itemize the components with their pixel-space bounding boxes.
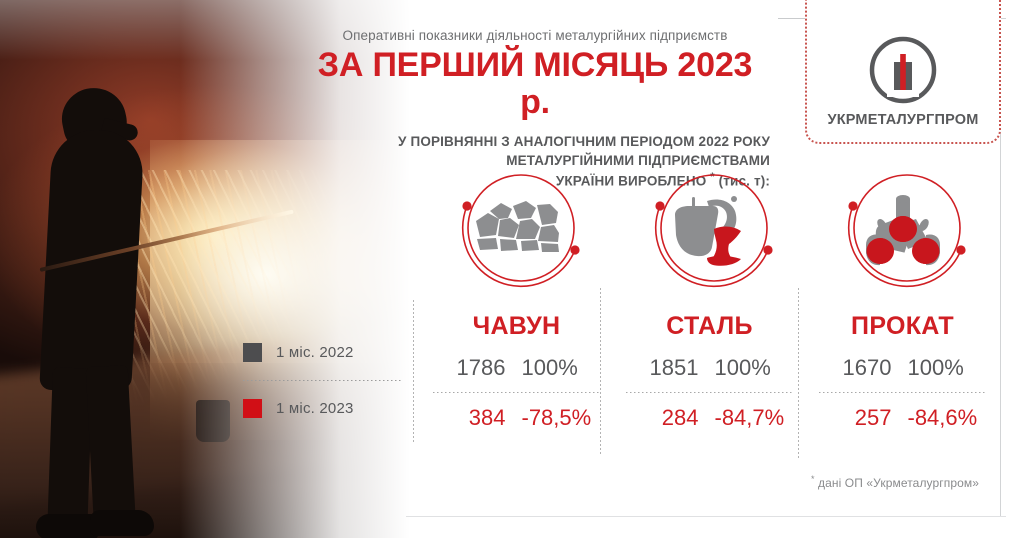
percent-2022-prokat: 100%	[902, 355, 988, 381]
metric-divider-stal	[626, 392, 794, 393]
legend-label-2022: 1 міс. 2022	[276, 344, 354, 361]
legend-swatch-2022	[243, 343, 262, 362]
footnote-asterisk: *	[811, 474, 815, 484]
metric-name-chavun: ЧАВУН	[473, 312, 561, 341]
metric-divider-prokat	[819, 392, 987, 393]
legend-swatch-2023	[243, 399, 262, 418]
logo-wordmark: УКРМЕТАЛУРГПРОМ	[827, 112, 978, 128]
metric-row-2022-chavun: 1786 100%	[428, 355, 606, 381]
iron-ore-rocks-icon	[474, 195, 560, 269]
metric-column-stal: СТАЛЬ 1851 100% 284 -84,7%	[613, 166, 806, 436]
metric-name-prokat: ПРОКАТ	[851, 312, 954, 341]
metric-name-stal: СТАЛЬ	[666, 312, 753, 341]
badge-stal	[644, 166, 776, 298]
footnote-text: дані ОП «Укрметалургпром»	[818, 476, 979, 490]
metric-column-chavun: ЧАВУН 1786 100% 384 -78,5%	[420, 166, 613, 436]
metric-row-2022-stal: 1851 100%	[621, 355, 799, 381]
percent-2023-prokat: -84,6%	[902, 405, 988, 431]
divider-bottom	[406, 516, 1006, 517]
footnote: * дані ОП «Укрметалургпром»	[800, 474, 990, 490]
rolled-pipes-icon	[860, 195, 946, 269]
pouring-ladle-icon	[667, 195, 753, 269]
percent-2023-chavun: -78,5%	[516, 405, 602, 431]
header-kicker: Оперативні показники діяльності металург…	[300, 28, 770, 43]
legend-divider	[243, 380, 401, 381]
legend-item-2023: 1 міс. 2023	[243, 394, 403, 422]
percent-2023-stal: -84,7%	[709, 405, 795, 431]
legend: 1 міс. 2022 1 міс. 2023	[243, 338, 403, 422]
value-2023-chavun: 384	[432, 405, 506, 431]
badge-prokat	[837, 166, 969, 298]
value-2023-stal: 284	[625, 405, 699, 431]
metric-row-2023-stal: 284 -84,7%	[621, 405, 799, 431]
metrics-columns: ЧАВУН 1786 100% 384 -78,5%	[420, 166, 1000, 436]
value-2023-prokat: 257	[818, 405, 892, 431]
metric-row-2023-prokat: 257 -84,6%	[814, 405, 992, 431]
value-2022-prokat: 1670	[818, 355, 892, 381]
metric-row-2023-chavun: 384 -78,5%	[428, 405, 606, 431]
percent-2022-chavun: 100%	[516, 355, 602, 381]
value-2022-stal: 1851	[625, 355, 699, 381]
column-divider-1	[413, 300, 414, 442]
header-subtitle-line-1: У ПОРІВНЯННІ З АНАЛОГІЧНИМ ПЕРІОДОМ 2022…	[300, 132, 770, 151]
metric-row-2022-prokat: 1670 100%	[814, 355, 992, 381]
infographic-page: Оперативні показники діяльності металург…	[0, 0, 1024, 538]
badge-chavun	[451, 166, 583, 298]
value-2022-chavun: 1786	[432, 355, 506, 381]
metric-divider-chavun	[433, 392, 601, 393]
photo-worker-silhouette	[28, 78, 168, 508]
legend-label-2023: 1 міс. 2023	[276, 400, 354, 417]
metric-column-prokat: ПРОКАТ 1670 100% 257 -84,6%	[806, 166, 999, 436]
legend-item-2022: 1 міс. 2022	[243, 338, 403, 366]
circle-bars-logo-icon	[865, 32, 941, 108]
logo-box[interactable]: УКРМЕТАЛУРГПРОМ	[805, 0, 1001, 144]
page-title: ЗА ПЕРШИЙ МІСЯЦЬ 2023 р.	[300, 47, 770, 122]
percent-2022-stal: 100%	[709, 355, 795, 381]
